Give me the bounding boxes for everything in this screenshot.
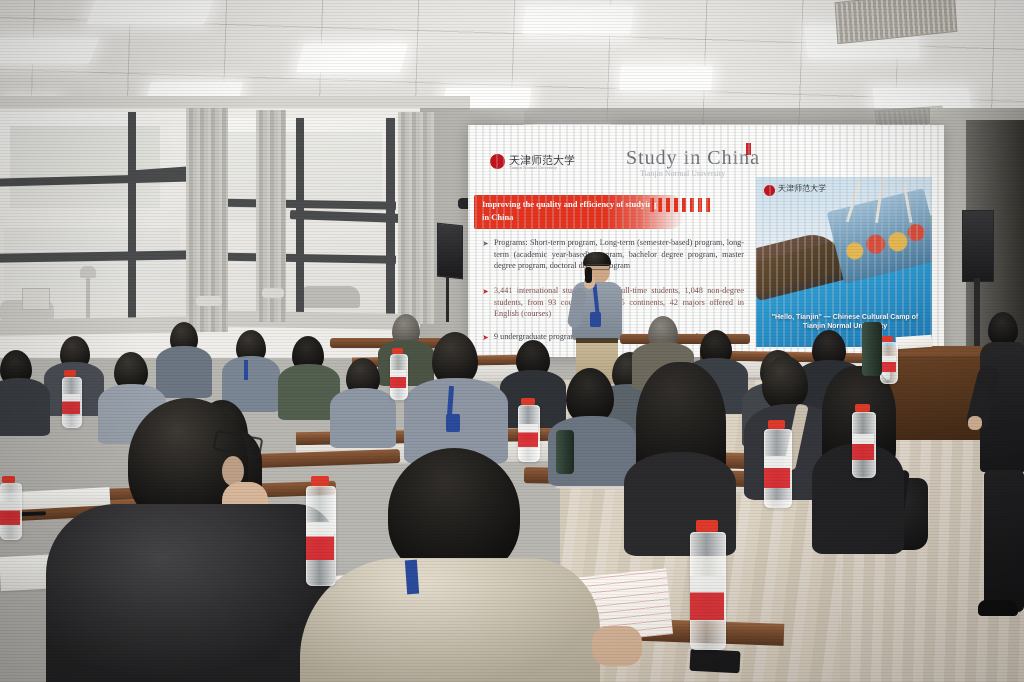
slide-title: Study in China bbox=[626, 147, 760, 170]
ceiling-light bbox=[87, 0, 216, 24]
bullet-marker-icon: ➤ bbox=[482, 287, 489, 296]
wall-speaker-icon bbox=[437, 223, 463, 280]
badge bbox=[446, 414, 460, 432]
curtain-tieback[interactable] bbox=[262, 288, 284, 298]
papers-on-podium bbox=[896, 335, 933, 349]
ceiling-light bbox=[619, 66, 713, 90]
slide-headline-text: Improving the quality and efficiency of … bbox=[482, 198, 662, 224]
bullet-marker-icon: ➤ bbox=[482, 333, 489, 342]
bottle-label bbox=[306, 522, 334, 560]
bottle-label bbox=[518, 424, 538, 447]
photo-logo: 天津师范大学 bbox=[764, 183, 842, 199]
bottle-cap bbox=[855, 404, 870, 412]
water-bottle[interactable] bbox=[518, 398, 538, 460]
audience-head bbox=[762, 356, 808, 410]
bullet-marker-icon: ➤ bbox=[482, 239, 489, 248]
speaker-cable bbox=[446, 276, 449, 322]
standing-person-right bbox=[984, 312, 1024, 612]
bottle-label bbox=[880, 356, 896, 372]
bottle-cap bbox=[311, 476, 329, 486]
slide-headline-band: Improving the quality and efficiency of … bbox=[474, 195, 684, 229]
logo-emblem-icon bbox=[490, 154, 505, 169]
thermos bbox=[862, 322, 882, 376]
slide-title-accent bbox=[746, 143, 751, 155]
bottle-label bbox=[852, 434, 874, 460]
water-bottle[interactable] bbox=[852, 404, 874, 476]
pa-speaker-icon bbox=[962, 210, 994, 282]
water-bottle[interactable] bbox=[390, 348, 406, 398]
presenter-badge bbox=[590, 312, 601, 327]
bottle-cap bbox=[768, 420, 785, 429]
slide-photo-card: 天津师范大学 "Hello, Tianjin" — Chinese Cultur… bbox=[756, 177, 932, 347]
ac-unit bbox=[22, 288, 50, 310]
bottle-label bbox=[690, 576, 724, 620]
bottle-label bbox=[390, 370, 406, 388]
water-bottle[interactable] bbox=[690, 520, 724, 648]
slide-subtitle: Tianjin Normal University bbox=[640, 169, 725, 178]
foreground-person-left bbox=[36, 398, 336, 682]
water-bottle[interactable] bbox=[0, 476, 20, 538]
podium bbox=[886, 352, 982, 440]
window-frame-vertical bbox=[128, 112, 136, 322]
bottle-cap bbox=[64, 370, 76, 377]
exterior-building bbox=[10, 126, 160, 208]
photo-logo-text: 天津师范大学 bbox=[778, 183, 826, 194]
curtain[interactable] bbox=[398, 112, 436, 324]
photo-logo-emblem-icon bbox=[764, 185, 775, 196]
parked-car bbox=[300, 286, 360, 308]
hand bbox=[968, 416, 982, 430]
water-bottle[interactable] bbox=[880, 336, 896, 382]
ceiling-light bbox=[523, 6, 634, 34]
bottle-cap bbox=[696, 520, 718, 532]
bottle-cap bbox=[2, 476, 15, 483]
shoe bbox=[978, 600, 1018, 616]
smartphone-on-desk[interactable] bbox=[689, 649, 740, 674]
bottle-label bbox=[0, 502, 20, 525]
legs bbox=[984, 470, 1024, 612]
ceiling-light bbox=[296, 44, 408, 72]
microphone-icon bbox=[585, 267, 592, 283]
logo-university-en: Tianjin Normal University bbox=[509, 165, 557, 170]
torso bbox=[300, 558, 600, 682]
presenter-belt bbox=[576, 338, 618, 343]
street-lamp-head bbox=[80, 266, 96, 278]
ceiling-light bbox=[0, 38, 99, 64]
bottle-cap bbox=[521, 398, 535, 405]
bottle-label bbox=[62, 394, 80, 414]
water-bottle[interactable] bbox=[764, 420, 790, 506]
water-bottle[interactable] bbox=[62, 370, 80, 426]
audience-body bbox=[330, 388, 396, 448]
slide-logo: 天津师范大学 Tianjin Normal University bbox=[490, 151, 594, 175]
hand bbox=[592, 626, 642, 666]
water-bottle[interactable] bbox=[306, 476, 334, 584]
curtain-tieback[interactable] bbox=[196, 296, 222, 306]
slide-photo-caption: "Hello, Tianjin" — Chinese Cultural Camp… bbox=[766, 313, 924, 331]
audience-body bbox=[156, 346, 212, 398]
street-lamp bbox=[86, 272, 90, 318]
lanyard bbox=[244, 360, 248, 380]
head bbox=[988, 312, 1018, 346]
foreground-person-center bbox=[300, 448, 630, 682]
lecture-hall-photo: 天津师范大学 Tianjin Normal University Study i… bbox=[0, 0, 1024, 682]
torso bbox=[46, 504, 336, 682]
bottle-label bbox=[764, 456, 790, 488]
lanyard bbox=[405, 560, 419, 595]
